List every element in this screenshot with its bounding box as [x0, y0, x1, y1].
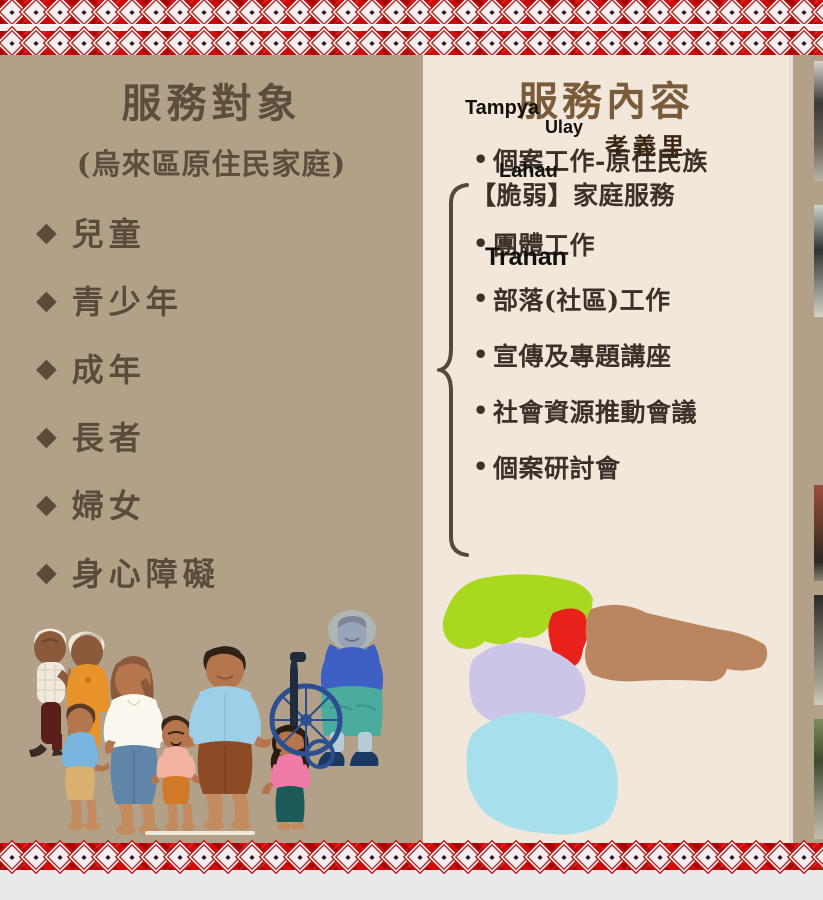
diamond-motif: [239, 0, 265, 25]
service-target-item: ◆成年: [36, 334, 220, 402]
poster-slide: 服務對象 (烏來區原住民家庭) ◆兒童◆青少年◆成年◆長者◆婦女◆身心障礙: [0, 0, 823, 900]
service-content-label: 個案工作-原住民族: [493, 147, 708, 176]
service-content-label-continued: 【脆弱】家庭服務: [471, 179, 781, 213]
figure-elder-man-with-cane: [29, 628, 72, 757]
bottom-border-band: [0, 843, 823, 870]
diamond-motif: [239, 30, 265, 56]
wulai-villages-map: [435, 567, 781, 839]
service-target-list: ◆兒童◆青少年◆成年◆長者◆婦女◆身心障礙: [36, 198, 220, 606]
diamond-motif: [527, 30, 553, 56]
diamond-motif: [47, 30, 73, 56]
diamond-motif: [671, 30, 697, 56]
diamond-motif: [671, 0, 697, 25]
service-content-item: 個案工作-原住民族【脆弱】家庭服務: [471, 145, 781, 213]
diamond-motif: [71, 30, 97, 56]
left-panel-subtitle: (烏來區原住民家庭): [0, 141, 423, 183]
diamond-bullet-icon: ◆: [36, 355, 62, 382]
service-content-item: 社會資源推動會議: [471, 396, 781, 430]
diamond-motif: [311, 30, 337, 56]
diamond-motif: [167, 0, 193, 25]
diamond-motif: [815, 843, 823, 869]
diamond-motif: [551, 30, 577, 56]
service-content-label: 個案研討會: [493, 454, 621, 483]
diamond-motif: [47, 0, 73, 25]
service-target-label: 身心障礙: [72, 549, 220, 595]
service-target-label: 婦女: [72, 481, 146, 527]
edge-photo-thumb: [814, 205, 823, 317]
diamond-motif: [143, 0, 169, 25]
service-content-item: 宣傳及專題講座: [471, 340, 781, 374]
diamond-motif: [167, 30, 193, 56]
diamond-motif: [71, 0, 97, 25]
diamond-motif: [0, 30, 25, 56]
top-border-band-1: [0, 0, 823, 24]
diamond-motif: [647, 30, 673, 56]
diamond-motif: [95, 0, 121, 25]
diamond-motif: [431, 30, 457, 56]
service-target-item: ◆身心障礙: [36, 538, 220, 606]
diamond-motif: [743, 0, 769, 25]
service-target-item: ◆長者: [36, 402, 220, 470]
figure-boy: [62, 703, 110, 830]
diamond-motif: [383, 0, 409, 25]
diamond-motif: [335, 30, 361, 56]
diamond-motif: [695, 30, 721, 56]
diamond-motif: [335, 0, 361, 25]
ground-line: [145, 831, 255, 835]
edge-photo-strip: [814, 55, 823, 843]
diamond-row: [0, 0, 823, 24]
service-target-label: 青少年: [72, 277, 183, 323]
map-region-xiaoyi: [585, 605, 767, 682]
diamond-motif: [311, 0, 337, 25]
service-content-label: 社會資源推動會議: [493, 398, 697, 427]
diamond-motif: [575, 0, 601, 25]
diamond-motif: [191, 30, 217, 56]
diamond-motif: [119, 30, 145, 56]
diamond-motif: [743, 30, 769, 56]
diamond-row: [0, 843, 823, 870]
diamond-motif: [383, 30, 409, 56]
curly-brace-icon: [437, 181, 471, 559]
diamond-row: [0, 31, 823, 55]
service-content-item: 團體工作: [471, 229, 781, 263]
diamond-motif: [0, 0, 25, 25]
diamond-motif: [479, 0, 505, 25]
diamond-bullet-icon: ◆: [36, 423, 62, 450]
diamond-motif: [767, 30, 793, 56]
diamond-motif: [263, 30, 289, 56]
diamond-motif: [215, 0, 241, 25]
panels-container: 服務對象 (烏來區原住民家庭) ◆兒童◆青少年◆成年◆長者◆婦女◆身心障礙: [0, 55, 823, 843]
service-target-item: ◆婦女: [36, 470, 220, 538]
diamond-motif: [95, 30, 121, 56]
figure-father: [186, 646, 273, 830]
right-panel-service-content: 服務內容 個案工作-原住民族【脆弱】家庭服務團體工作部落(社區)工作宣傳及專題講…: [423, 55, 789, 843]
diamond-motif: [431, 0, 457, 25]
diamond-motif: [407, 30, 433, 56]
service-target-label: 成年: [72, 345, 146, 391]
diamond-bullet-icon: ◆: [36, 559, 62, 586]
diamond-motif: [479, 30, 505, 56]
family-illustration: [0, 608, 400, 843]
diamond-motif: [719, 30, 745, 56]
diamond-motif: [815, 30, 823, 56]
diamond-motif: [455, 30, 481, 56]
diamond-motif: [407, 0, 433, 25]
service-content-label: 團體工作: [493, 231, 595, 260]
diamond-motif: [791, 0, 817, 25]
diamond-motif: [599, 30, 625, 56]
right-panel-title: 服務內容: [423, 69, 789, 127]
diamond-motif: [527, 0, 553, 25]
left-panel-title: 服務對象: [0, 71, 423, 129]
service-content-list: 個案工作-原住民族【脆弱】家庭服務團體工作部落(社區)工作宣傳及專題講座社會資源…: [471, 145, 781, 507]
diamond-motif: [23, 30, 49, 56]
figure-mother: [104, 656, 165, 835]
diamond-motif: [359, 0, 385, 25]
diamond-motif: [623, 0, 649, 25]
service-target-label: 長者: [72, 413, 146, 459]
diamond-motif: [215, 30, 241, 56]
diamond-motif: [503, 0, 529, 25]
diamond-motif: [767, 0, 793, 25]
service-content-item: 個案研討會: [471, 452, 781, 486]
diamond-motif: [791, 30, 817, 56]
diamond-motif: [119, 0, 145, 25]
diamond-motif: [599, 0, 625, 25]
diamond-bullet-icon: ◆: [36, 491, 62, 518]
edge-photo-thumb: [814, 61, 823, 181]
service-target-label: 兒童: [72, 209, 146, 255]
edge-photo-thumb: [814, 719, 823, 839]
edge-photo-thumb: [814, 485, 823, 581]
diamond-motif: [455, 0, 481, 25]
service-content-label: 宣傳及專題講座: [493, 342, 672, 371]
service-content-item: 部落(社區)工作: [471, 284, 781, 318]
diamond-motif: [263, 0, 289, 25]
map-region-tranan: [467, 712, 618, 834]
diamond-motif: [287, 0, 313, 25]
diamond-motif: [359, 30, 385, 56]
diamond-motif: [815, 0, 823, 25]
diamond-motif: [719, 0, 745, 25]
diamond-bullet-icon: ◆: [36, 287, 62, 314]
diamond-motif: [23, 0, 49, 25]
edge-photo-thumb: [814, 595, 823, 705]
right-edge-panel: [789, 55, 823, 843]
diamond-motif: [551, 0, 577, 25]
top-border-band-2: [0, 31, 823, 55]
service-content-label: 部落(社區)工作: [493, 286, 671, 315]
diamond-motif: [287, 30, 313, 56]
service-target-item: ◆青少年: [36, 266, 220, 334]
border-band-gap: [0, 24, 823, 31]
diamond-motif: [647, 0, 673, 25]
diamond-motif: [503, 30, 529, 56]
diamond-motif: [623, 30, 649, 56]
diamond-bullet-icon: ◆: [36, 219, 62, 246]
diamond-motif: [143, 30, 169, 56]
service-target-item: ◆兒童: [36, 198, 220, 266]
diamond-motif: [191, 0, 217, 25]
left-panel-service-targets: 服務對象 (烏來區原住民家庭) ◆兒童◆青少年◆成年◆長者◆婦女◆身心障礙: [0, 55, 423, 843]
diamond-motif: [695, 0, 721, 25]
diamond-motif: [575, 30, 601, 56]
